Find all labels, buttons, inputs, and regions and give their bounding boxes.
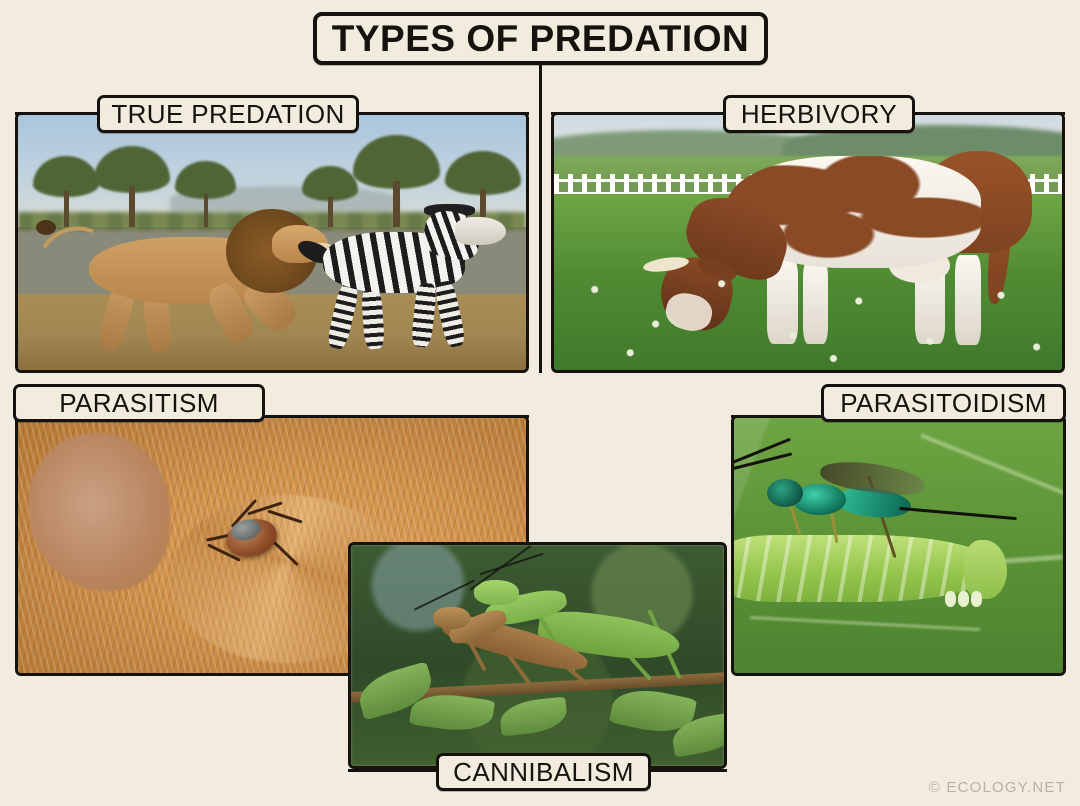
photo-cannibalism <box>348 542 727 769</box>
label-text: TRUE PREDATION <box>111 101 344 127</box>
caterpillar-proleg <box>971 591 983 606</box>
page-title-text: TYPES OF PREDATION <box>332 20 749 57</box>
label-cannibalism: CANNIBALISM <box>436 753 651 791</box>
acacia-tree <box>33 156 99 227</box>
lion-tail-tuft <box>36 220 56 235</box>
watermark: © ECOLOGY.NET <box>929 779 1066 796</box>
scene-pasture <box>554 115 1062 370</box>
label-text: CANNIBALISM <box>453 759 634 785</box>
acacia-tree <box>94 146 170 228</box>
label-parasitism: PARASITISM <box>13 384 265 422</box>
caterpillar-proleg <box>945 591 957 606</box>
page-title: TYPES OF PREDATION <box>313 12 768 65</box>
infographic-canvas: TYPES OF PREDATION TRUE PREDATION HERBIV… <box>0 0 1080 806</box>
label-text: HERBIVORY <box>741 101 897 127</box>
label-true-predation: TRUE PREDATION <box>97 95 359 133</box>
caterpillar-proleg <box>958 591 970 606</box>
scene-mantises <box>351 545 724 766</box>
zebra-head <box>455 217 506 245</box>
scene-savanna <box>18 115 526 370</box>
label-text: PARASITOIDISM <box>840 390 1047 416</box>
acacia-tree <box>175 161 236 227</box>
connector-center-vertical <box>539 112 542 373</box>
label-text: PARASITISM <box>59 390 219 416</box>
photo-true-predation <box>15 112 529 373</box>
photo-herbivory <box>551 112 1065 373</box>
connector-cann-right <box>649 769 727 772</box>
photo-parasitoidism <box>731 415 1066 676</box>
caterpillar-head <box>964 540 1007 599</box>
label-herbivory: HERBIVORY <box>723 95 915 133</box>
green-mantis-head <box>474 580 519 604</box>
caterpillar-body <box>731 535 997 601</box>
label-parasitoidism: PARASITOIDISM <box>821 384 1066 422</box>
scene-leaf <box>734 418 1063 673</box>
acacia-tree <box>302 166 358 227</box>
connector-title-stem <box>539 65 542 112</box>
connector-cann-left <box>348 769 438 772</box>
brown-mantis-head <box>433 607 470 629</box>
clover-blooms <box>554 255 1062 370</box>
